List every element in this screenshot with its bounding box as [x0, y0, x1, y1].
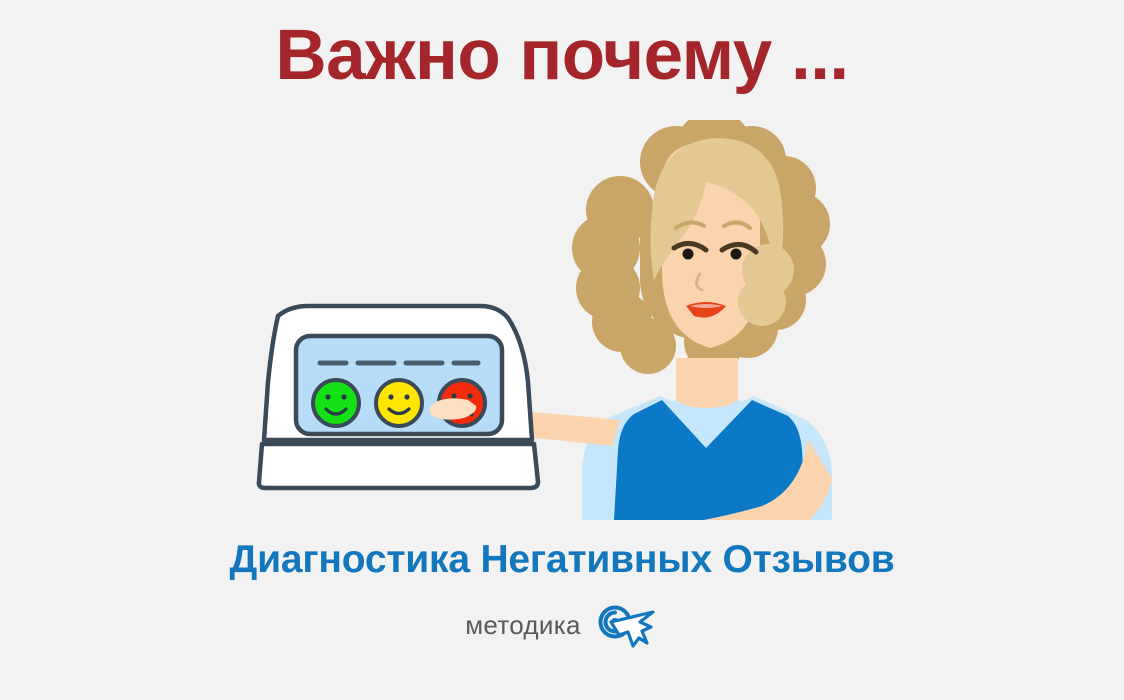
click-target-cursor-icon: [597, 602, 659, 648]
brand-logo: методика: [0, 602, 1124, 648]
slide-canvas: Важно почему ...: [0, 0, 1124, 700]
feedback-terminal[interactable]: [259, 306, 538, 488]
page-title: Важно почему ...: [0, 18, 1124, 95]
brand-logo-text: методика: [465, 610, 580, 641]
eye-right: [731, 249, 742, 260]
illustration-feedback-kiosk-with-woman: [0, 120, 1124, 520]
eye-left: [683, 249, 694, 260]
smiley-neutral-button[interactable]: [376, 380, 422, 426]
terminal-base: [259, 444, 538, 488]
page-subtitle: Диагностика Негативных Отзывов: [0, 538, 1124, 582]
smiley-happy-button[interactable]: [313, 380, 359, 426]
